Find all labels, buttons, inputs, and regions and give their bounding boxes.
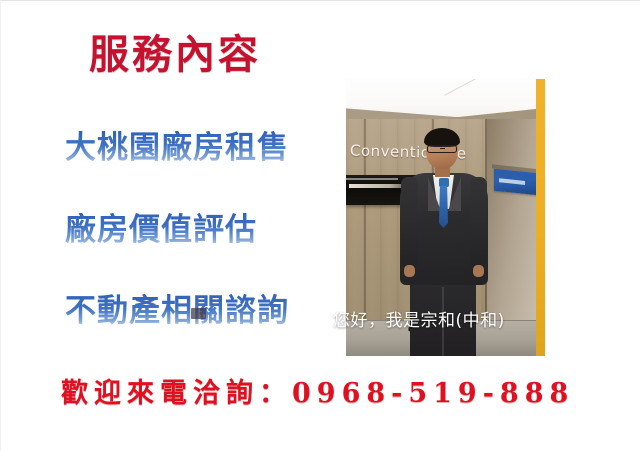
contact-phone-line: 歡迎來電洽詢：0968-519-888 bbox=[61, 371, 574, 410]
photo-caption: 您好，我是宗和(中和) bbox=[333, 306, 505, 331]
overlay-artifact bbox=[191, 308, 206, 319]
page-title: 服務內容 bbox=[89, 33, 261, 77]
photo-accent-strip bbox=[536, 79, 545, 356]
photo-person-tie-knot bbox=[439, 178, 449, 187]
photo-plaque-inscription bbox=[499, 178, 525, 185]
photo-counter-edge-highlight bbox=[346, 178, 398, 180]
slide-canvas: 服務內容 大桃園廠房租售 廠房價值評估 不動產相關諮詢 歡迎來電洽詢：0968-… bbox=[0, 0, 640, 451]
photo-ceiling-seam bbox=[444, 79, 482, 96]
service-item-2: 廠房價值評估 bbox=[65, 213, 257, 247]
photo-person-arm-left bbox=[401, 177, 418, 269]
photo-person-tie bbox=[439, 186, 448, 228]
photo-blue-plaque bbox=[494, 169, 538, 196]
photo-person-lapel-right bbox=[448, 177, 461, 211]
glasses-icon bbox=[427, 145, 457, 153]
photo-person-arm-right bbox=[470, 177, 487, 269]
photo-person-hand-right bbox=[473, 265, 484, 277]
service-item-3: 不動產相關諮詢 bbox=[65, 294, 289, 328]
photo-person-hand-left bbox=[404, 265, 415, 277]
service-item-1: 大桃園廠房租售 bbox=[65, 131, 289, 165]
